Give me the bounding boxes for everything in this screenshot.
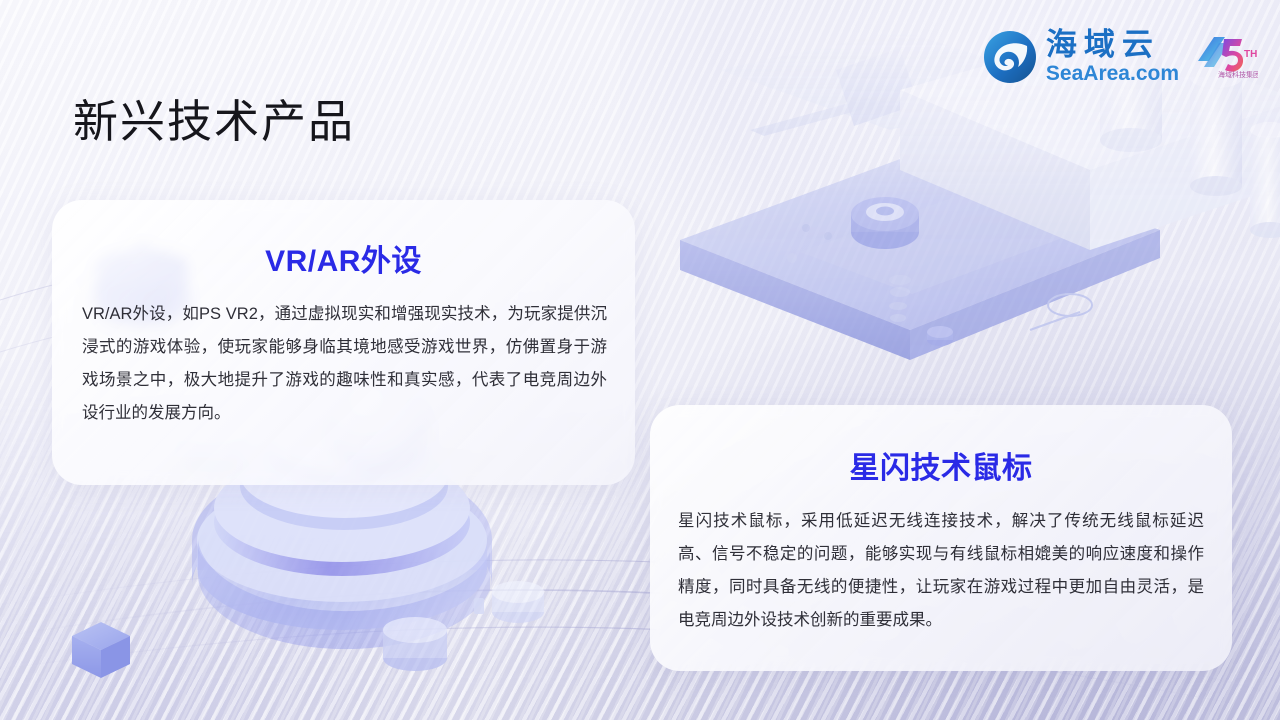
card-vrar-peripherals[interactable]: VR/AR外设 VR/AR外设，如PS VR2，通过虚拟现实和增强现实技术，为玩… bbox=[52, 200, 635, 485]
anniversary-25th-icon: TH 海域科技集团 bbox=[1192, 31, 1258, 83]
anniversary-th-label: TH bbox=[1244, 49, 1257, 60]
page-title: 新兴技术产品 bbox=[73, 85, 355, 150]
card-vrar-title: VR/AR外设 bbox=[52, 236, 635, 280]
brand-name-cn: 海域云 bbox=[1046, 30, 1179, 61]
card-starflash-mouse[interactable]: 星闪技术鼠标 星闪技术鼠标，采用低延迟无线连接技术，解决了传统无线鼠标延迟高、信… bbox=[650, 405, 1232, 671]
rounded-cube-shape bbox=[68, 618, 134, 688]
anniversary-sub-label: 海域科技集团 bbox=[1218, 70, 1258, 79]
brand-wordmark: 海域云 SeaArea.com bbox=[1046, 30, 1179, 84]
card-mouse-title: 星闪技术鼠标 bbox=[650, 443, 1232, 487]
isometric-tech-board-illustration bbox=[600, 30, 1280, 450]
brand-name-en: SeaArea.com bbox=[1046, 63, 1179, 84]
wave-swirl-icon bbox=[983, 30, 1037, 84]
brand-logo[interactable]: 海域云 SeaArea.com TH 海域科技集团 bbox=[983, 26, 1258, 88]
card-vrar-body: VR/AR外设，如PS VR2，通过虚拟现实和增强现实技术，为玩家提供沉浸式的游… bbox=[82, 298, 607, 430]
card-mouse-body: 星闪技术鼠标，采用低延迟无线连接技术，解决了传统无线鼠标延迟高、信号不稳定的问题… bbox=[678, 505, 1204, 637]
slide-stage: 新兴技术产品 海域云 SeaArea.com bbox=[0, 0, 1280, 720]
